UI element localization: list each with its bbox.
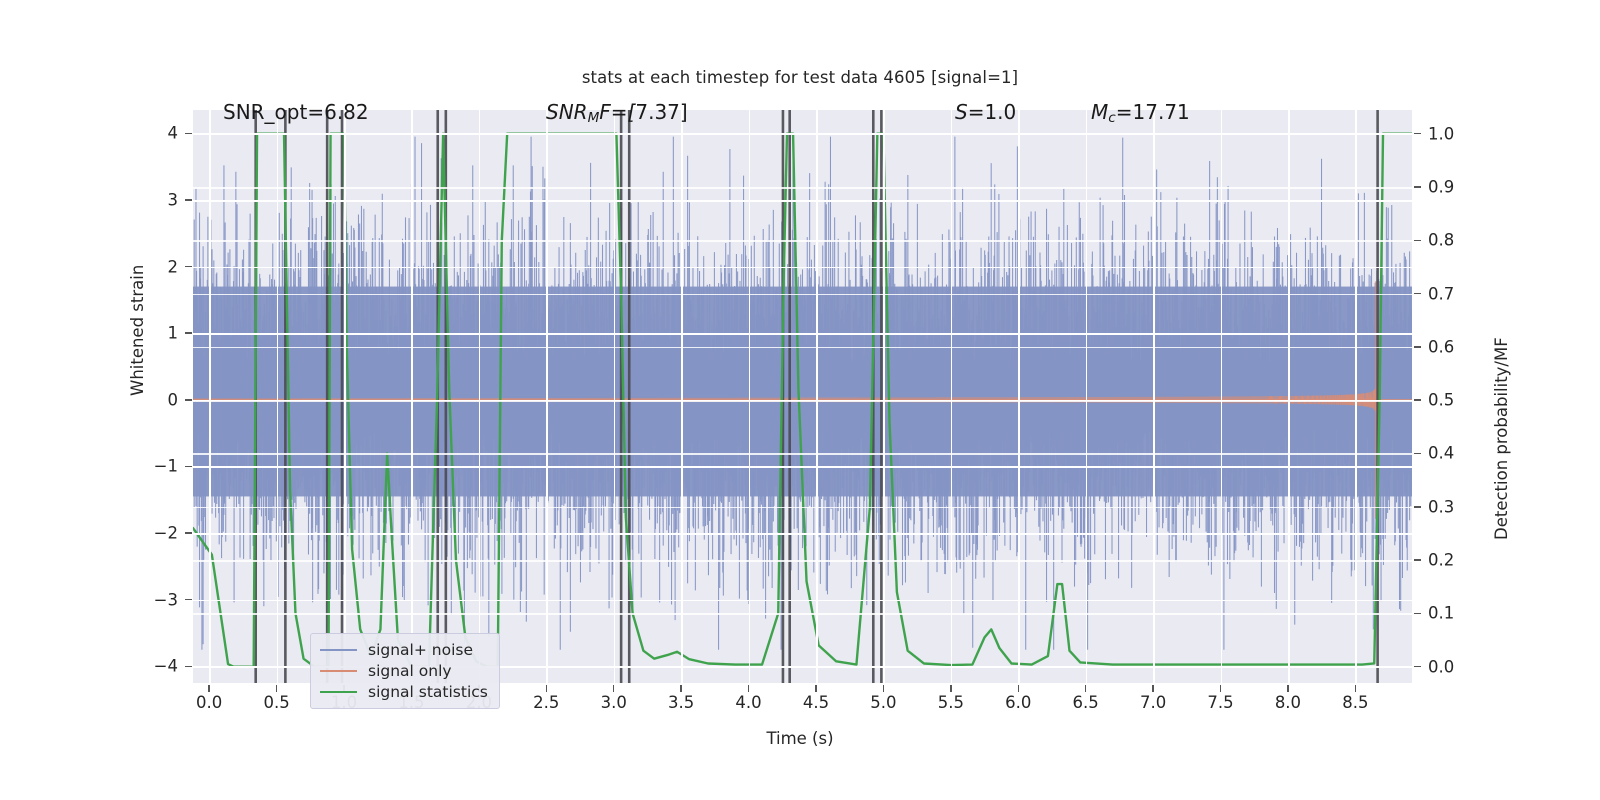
gridline-horizontal [193, 400, 1412, 402]
mc-subscript: c [1108, 110, 1115, 126]
gridline-vertical [479, 110, 481, 683]
gridline-vertical [1086, 110, 1088, 683]
y-tick-label-right: 0.7 [1428, 284, 1454, 303]
y-tick-label-left: 2 [168, 257, 179, 276]
y-tick-mark-left [185, 532, 192, 534]
y-tick-mark-right [1414, 186, 1421, 188]
x-tick-mark [1152, 685, 1154, 692]
y-tick-mark-left [185, 266, 192, 268]
gridline-horizontal-right [193, 187, 1412, 189]
x-tick-mark [546, 685, 548, 692]
x-tick-label: 5.0 [870, 693, 896, 712]
legend-item-signal-statistics[interactable]: signal statistics [320, 681, 488, 702]
snr-opt-value: 6.82 [324, 100, 369, 124]
x-tick-mark [1355, 685, 1357, 692]
gridline-horizontal [193, 200, 1412, 202]
x-tick-mark [748, 685, 750, 692]
x-tick-label: 0.0 [196, 693, 222, 712]
annotation-snr-mf: SNRMF=[7.37] [546, 100, 688, 126]
y-tick-mark-right [1414, 506, 1421, 508]
y-tick-mark-right [1414, 453, 1421, 455]
y-tick-label-left: −3 [154, 590, 178, 609]
gridline-horizontal-right [193, 347, 1412, 349]
legend-swatch-signal-only [320, 670, 357, 672]
gridline-vertical [1018, 110, 1020, 683]
y-tick-mark-right [1414, 293, 1421, 295]
figure-canvas: stats at each timestep for test data 460… [0, 0, 1600, 800]
gridline-vertical [546, 110, 548, 683]
y-tick-label-right: 1.0 [1428, 124, 1454, 143]
y-tick-label-left: −4 [154, 657, 178, 676]
y-tick-label-right: 0.4 [1428, 444, 1454, 463]
legend-label-signal-only: signal only [368, 662, 452, 680]
y-tick-label-right: 0.8 [1428, 231, 1454, 250]
y-tick-label-left: 4 [168, 124, 179, 143]
y-tick-mark-left [185, 399, 192, 401]
annotation-snr-opt: SNR_opt=6.82 [223, 100, 369, 124]
x-tick-mark [680, 685, 682, 692]
y-tick-mark-left [185, 199, 192, 201]
y-tick-label-right: 0.3 [1428, 497, 1454, 516]
y-tick-mark-right [1414, 399, 1421, 401]
chart-title: stats at each timestep for test data 460… [0, 68, 1600, 87]
y-tick-label-right: 0.2 [1428, 551, 1454, 570]
gridline-horizontal-right [193, 507, 1412, 509]
x-tick-mark [815, 685, 817, 692]
gridline-vertical [816, 110, 818, 683]
gridline-horizontal [193, 600, 1412, 602]
y-tick-mark-right [1414, 613, 1421, 615]
y-tick-mark-left [185, 666, 192, 668]
x-tick-mark [1220, 685, 1222, 692]
snr-mf-mid: F=[ [599, 100, 635, 124]
y-tick-mark-right [1414, 240, 1421, 242]
y-tick-label-right: 0.6 [1428, 337, 1454, 356]
legend-label-signal-noise: signal+ noise [368, 641, 473, 659]
x-tick-mark [883, 685, 885, 692]
y-axis-label-left: Whitened strain [128, 265, 147, 396]
s-value: =1.0 [968, 100, 1017, 124]
gridline-horizontal-right [193, 453, 1412, 455]
gridline-vertical [411, 110, 413, 683]
x-tick-label: 5.5 [938, 693, 964, 712]
snr-mf-prefix: SNR [546, 100, 588, 124]
y-tick-label-right: 0.1 [1428, 604, 1454, 623]
x-tick-mark [613, 685, 615, 692]
gridline-horizontal [193, 133, 1412, 135]
gridline-horizontal-right [193, 294, 1412, 296]
gridline-vertical [681, 110, 683, 683]
gridline-vertical [1153, 110, 1155, 683]
annotation-chirp-mass: Mc=17.71 [1091, 100, 1190, 126]
x-tick-label: 7.0 [1140, 693, 1166, 712]
x-tick-label: 0.5 [263, 693, 289, 712]
y-tick-label-left: 1 [168, 324, 179, 343]
x-tick-mark [1018, 685, 1020, 692]
gridline-vertical [1355, 110, 1357, 683]
snr-mf-subscript: M [588, 110, 600, 126]
x-tick-label: 3.0 [601, 693, 627, 712]
x-tick-label: 6.0 [1005, 693, 1031, 712]
plot-drawing-surface [193, 110, 1412, 683]
y-tick-label-left: −2 [154, 524, 178, 543]
y-tick-mark-left [185, 599, 192, 601]
x-tick-mark [950, 685, 952, 692]
gridline-horizontal [193, 533, 1412, 535]
x-tick-label: 6.5 [1073, 693, 1099, 712]
y-tick-label-right: 0.9 [1428, 177, 1454, 196]
chart-legend[interactable]: signal+ noise signal only signal statist… [310, 633, 500, 709]
gridline-horizontal [193, 333, 1412, 335]
legend-item-signal-noise[interactable]: signal+ noise [320, 639, 488, 660]
x-tick-label: 7.5 [1207, 693, 1233, 712]
snr-opt-prefix: SNR_opt= [223, 100, 324, 124]
y-tick-mark-right [1414, 559, 1421, 561]
y-tick-label-left: 3 [168, 190, 179, 209]
gridline-vertical [344, 110, 346, 683]
gridline-horizontal [193, 466, 1412, 468]
legend-item-signal-only[interactable]: signal only [320, 660, 488, 681]
gridline-horizontal [193, 267, 1412, 269]
y-tick-label-right: 0.5 [1428, 391, 1454, 410]
x-tick-label: 8.0 [1275, 693, 1301, 712]
x-tick-label: 3.5 [668, 693, 694, 712]
gridline-vertical [749, 110, 751, 683]
y-axis-label-right: Detection probability/MF [1492, 337, 1511, 540]
gridline-vertical [614, 110, 616, 683]
y-tick-mark-left [185, 466, 192, 468]
gridline-vertical [1288, 110, 1290, 683]
legend-swatch-signal-statistics [320, 691, 357, 693]
y-tick-label-left: −1 [154, 457, 178, 476]
gridline-vertical [1221, 110, 1223, 683]
gridline-horizontal-right [193, 240, 1412, 242]
x-tick-label: 4.0 [735, 693, 761, 712]
legend-swatch-signal-noise [320, 649, 357, 651]
snr-mf-suffix: ] [680, 100, 688, 124]
plot-axes [193, 110, 1412, 683]
s-prefix: S [955, 100, 968, 124]
y-tick-mark-left [185, 133, 192, 135]
x-tick-mark [208, 685, 210, 692]
x-tick-label: 8.5 [1342, 693, 1368, 712]
annotation-s-stat: S=1.0 [955, 100, 1016, 124]
y-tick-mark-left [185, 332, 192, 334]
gridline-vertical [277, 110, 279, 683]
y-tick-mark-right [1414, 666, 1421, 668]
y-tick-mark-right [1414, 133, 1421, 135]
gridline-vertical [209, 110, 211, 683]
y-tick-mark-right [1414, 346, 1421, 348]
x-axis-label: Time (s) [0, 729, 1600, 748]
y-tick-label-right: 0.0 [1428, 657, 1454, 676]
x-tick-mark [276, 685, 278, 692]
gridline-vertical [883, 110, 885, 683]
mc-value: =17.71 [1116, 100, 1190, 124]
gridline-vertical [951, 110, 953, 683]
mc-prefix: M [1091, 100, 1108, 124]
x-tick-label: 4.5 [803, 693, 829, 712]
y-tick-label-left: 0 [168, 390, 179, 409]
x-tick-mark [1287, 685, 1289, 692]
x-tick-label: 2.5 [533, 693, 559, 712]
legend-label-signal-statistics: signal statistics [368, 683, 488, 701]
gridline-horizontal-right [193, 560, 1412, 562]
snr-mf-value: 7.37 [635, 100, 680, 124]
x-tick-mark [1085, 685, 1087, 692]
gridline-horizontal-right [193, 613, 1412, 615]
